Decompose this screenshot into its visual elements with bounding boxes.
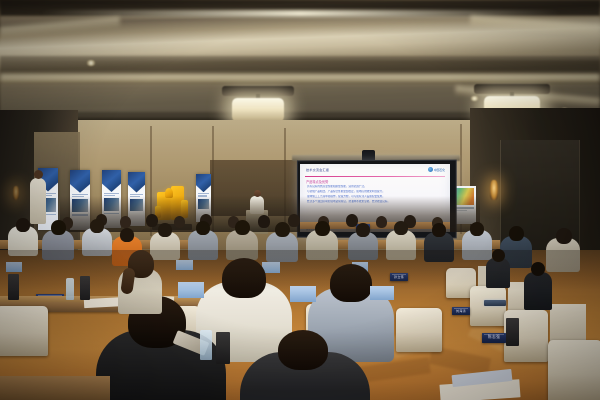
- mid-person-11-head: [432, 223, 446, 237]
- wall-sconce-left-icon: [13, 186, 19, 200]
- laptop-front-2: [290, 286, 316, 302]
- foreground-person-white-head: [222, 258, 266, 298]
- slide-bullet-1: 具有良好的抗高温性能和耐盐性能，适用范围广泛。: [307, 185, 443, 188]
- mid-person-14-head: [556, 228, 572, 244]
- far-head-3: [146, 214, 158, 227]
- slide-section-title: 产品特点及优势: [306, 179, 444, 184]
- thermos-front: [216, 332, 230, 364]
- far-head-2: [120, 216, 131, 228]
- chair-front-4: [396, 308, 442, 352]
- conference-hall-photo: 技术交流会汇报 中国石化 产品特点及优势 具有良好的抗高温性能和耐盐性能，适用范…: [0, 0, 600, 400]
- slide-header: 技术交流会汇报 中国石化: [304, 166, 446, 176]
- slide-logo-text: 中国石化: [434, 168, 445, 172]
- mid-person-12-head: [470, 222, 484, 236]
- mid-person-7-head: [275, 222, 290, 237]
- mid-person-6-head: [235, 220, 250, 235]
- mid-person-1-head: [16, 218, 30, 232]
- right-seated-person-2: [524, 272, 552, 310]
- right-seated-person-2-head: [531, 262, 545, 276]
- cove-light-strip-mid: [0, 74, 600, 84]
- laptop-mid-2: [176, 260, 193, 270]
- foreground-person-blue-head: [330, 264, 372, 302]
- far-head-8: [288, 214, 300, 227]
- laptop-mid-1: [6, 262, 22, 272]
- mid-person-orange-head: [120, 228, 134, 242]
- mid-person-13-head: [509, 226, 524, 241]
- foreground-person-right-head: [278, 330, 328, 370]
- right-seated-person-1-head: [492, 249, 505, 262]
- thermos-left: [80, 276, 90, 300]
- chair-front-1: [0, 306, 48, 356]
- chair-right-4: [548, 340, 600, 400]
- laptop-right-1: [484, 300, 506, 306]
- mid-person-9-head: [356, 223, 370, 237]
- placard-right-far-name: 孙立伟: [394, 276, 404, 279]
- placard-right-b-name: 陈志强: [488, 336, 500, 340]
- placard-right-far: 孙立伟: [390, 273, 408, 281]
- standing-attendee-left-head: [34, 170, 43, 179]
- standing-attendee-left: [30, 178, 46, 224]
- downlight-14: [86, 60, 96, 66]
- far-head-11: [376, 216, 387, 228]
- mid-person-5-head: [196, 221, 210, 235]
- placard-right-b: 陈志强: [482, 333, 506, 343]
- slide-bullet-2: 与常规产品相比，产品综合性能更加稳定，现场应用效果明显提升。: [307, 190, 443, 193]
- far-head-10: [346, 214, 358, 227]
- mid-person-2-head: [51, 220, 66, 235]
- company-logo-icon: [428, 167, 433, 172]
- right-seated-person-1: [486, 258, 510, 288]
- table-foreground-bottom: [0, 376, 110, 400]
- thermos-left-2: [8, 274, 19, 300]
- mid-person-4-head: [158, 223, 172, 237]
- water-bottle-left: [66, 278, 74, 300]
- laptop-front-1: [178, 282, 204, 298]
- mid-person-8-head: [315, 221, 330, 236]
- slide-logo: 中国石化: [428, 167, 445, 172]
- wall-sconce-icon: [490, 180, 498, 200]
- far-head-7: [258, 215, 270, 228]
- placard-right-a: 刘海涛: [452, 307, 470, 315]
- mid-person-3-head: [90, 219, 104, 233]
- thermos-front-2: [506, 318, 519, 346]
- placard-right-a-name: 刘海涛: [456, 310, 466, 313]
- far-head-4: [174, 216, 185, 228]
- water-bottle-front: [200, 330, 212, 360]
- laptop-front-3: [370, 286, 394, 300]
- slide-header-rule: [305, 176, 445, 177]
- chair-right-2: [470, 286, 506, 326]
- mid-person-10-head: [394, 221, 408, 235]
- slide-header-title: 技术交流会汇报: [306, 167, 329, 172]
